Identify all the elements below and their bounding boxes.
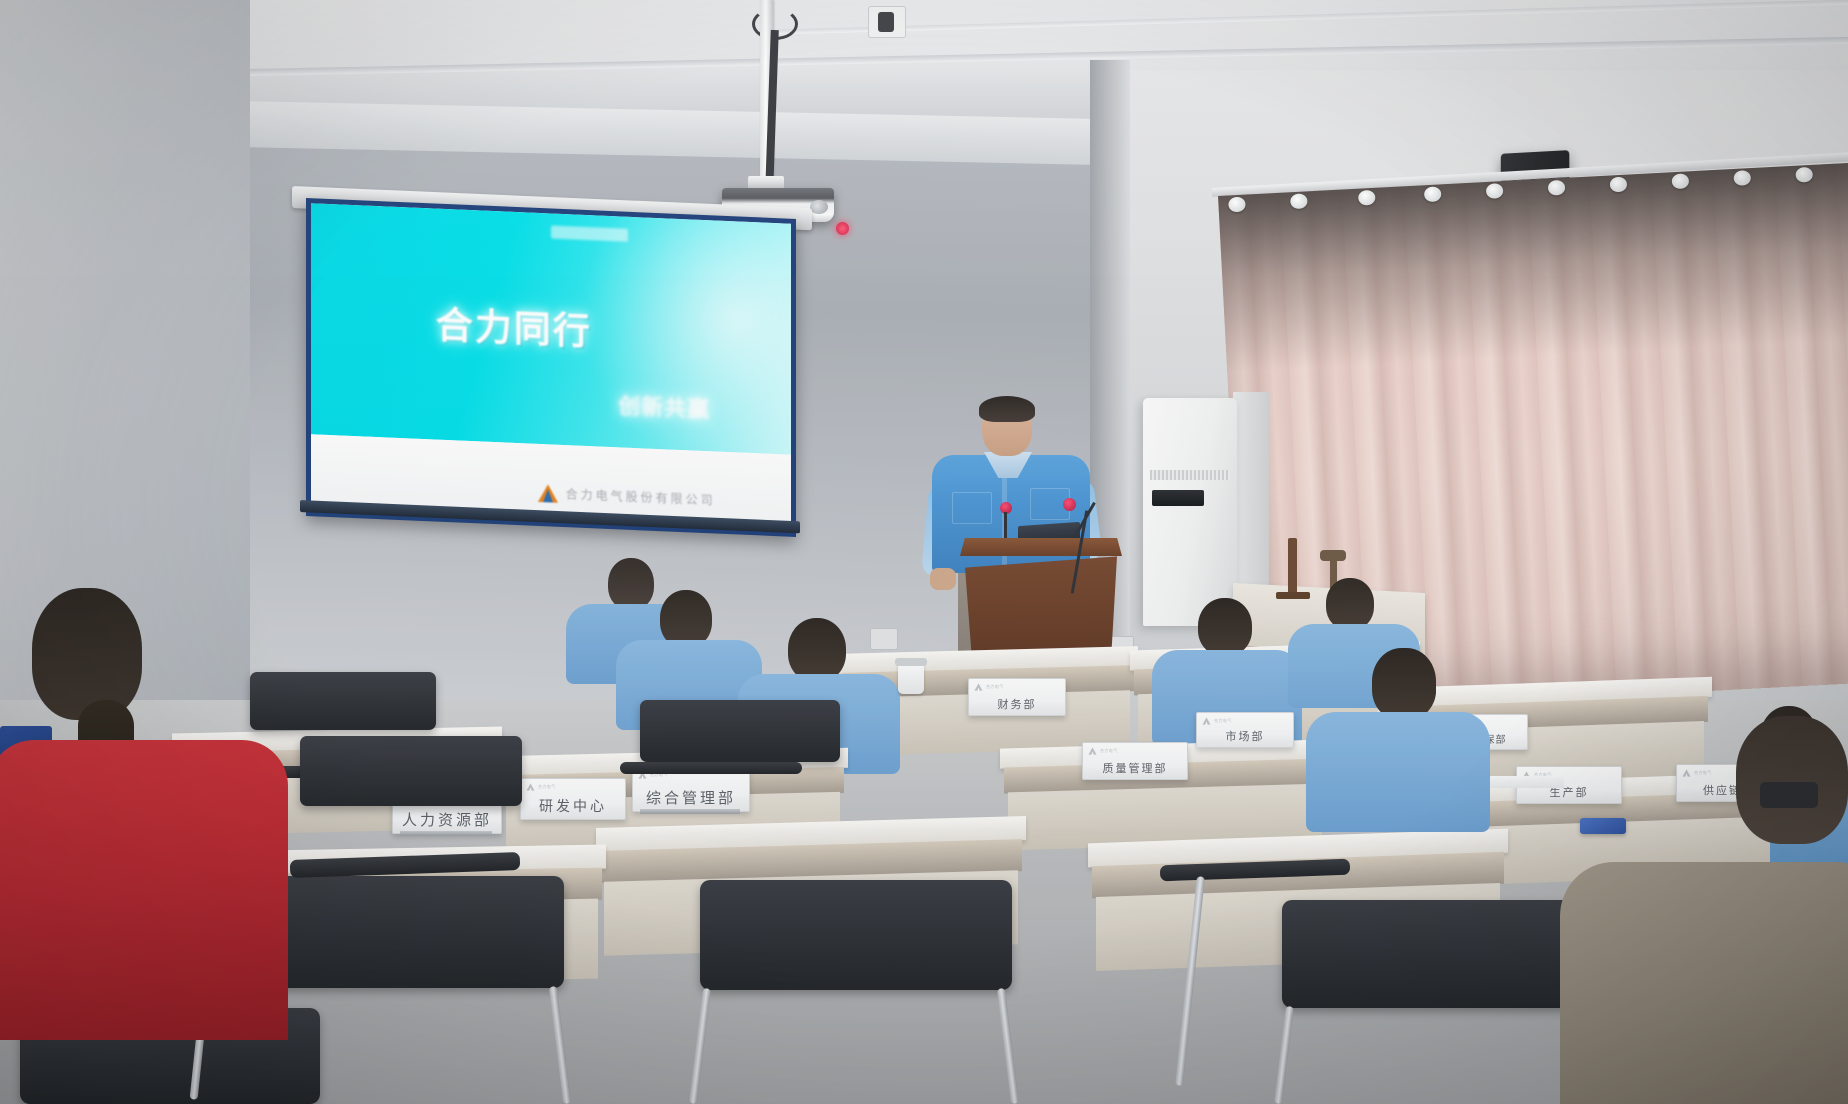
chair-armrest: [620, 762, 802, 774]
person-torso: [1306, 712, 1490, 832]
person-head: [32, 588, 142, 720]
chair-row2-left[interactable]: [300, 736, 522, 806]
nameplate-org: 合力电气: [1100, 748, 1118, 754]
ceiling-plug: [878, 12, 894, 32]
nameplate-quality: 合力电气 质量管理部: [1082, 742, 1188, 780]
person-head: [1736, 716, 1848, 844]
company-logo-icon: [1088, 747, 1097, 755]
ac-grille-icon: [1150, 470, 1230, 480]
slide-subline: 创新共赢: [618, 389, 710, 425]
person-head: [788, 618, 846, 682]
decor-stand-2-top: [1320, 550, 1346, 561]
nameplate-org: 合力电气: [538, 784, 556, 790]
chair-foreground-center[interactable]: [700, 880, 1012, 990]
nameplate-market: 合力电气 市场部: [1196, 712, 1294, 748]
chair-backrest: [1282, 900, 1588, 1008]
company-logo-icon: [1202, 717, 1211, 725]
company-logo-icon: [537, 482, 559, 503]
decor-stand: [1288, 538, 1297, 596]
person-torso: [1560, 862, 1848, 1104]
chair-backrest: [640, 700, 840, 762]
nameplate-logo: 合力电气: [1088, 747, 1118, 755]
cup-lid: [895, 658, 927, 666]
wall-outlet: [870, 628, 898, 650]
nameplate-logo: 合力电气: [1682, 769, 1712, 777]
projector-status-light-icon: [836, 222, 849, 235]
eyeglasses-icon: [1760, 782, 1818, 808]
ac-display-panel: [1152, 490, 1204, 506]
chair-backrest: [250, 672, 436, 730]
chair-foreground-right[interactable]: [1282, 900, 1588, 1008]
presenter-hair: [979, 396, 1035, 422]
nameplate-org: 合力电气: [1694, 770, 1712, 776]
nameplate-text: 研发中心: [521, 796, 625, 819]
person-torso: [0, 740, 288, 1040]
paper-cup: [898, 662, 924, 694]
presenter-pocket-left: [952, 492, 992, 524]
decor-stand-base: [1276, 592, 1310, 599]
chair-row2-center[interactable]: [640, 700, 840, 762]
nameplate-org: 合力电气: [1214, 718, 1232, 724]
nameplate-org: 合力电气: [986, 684, 1004, 690]
podium-top: [960, 538, 1122, 556]
projector-lens-icon: [810, 200, 828, 214]
slide-headline: 合力同行: [436, 295, 592, 356]
paper-sheet: [1490, 776, 1564, 788]
person-head: [1372, 648, 1436, 720]
screen-frame: 合力同行 创新共赢 合力电气股份有限公司: [306, 198, 796, 537]
company-logo-icon: [974, 683, 983, 691]
nameplate-logo: 合力电气: [526, 783, 556, 791]
person-head: [1326, 578, 1374, 630]
microphone-head-icon-2: [1063, 498, 1076, 511]
nameplate-rnd: 合力电气 研发中心: [520, 778, 626, 820]
company-logo-icon: [526, 783, 535, 791]
chair-backrest: [300, 736, 522, 806]
projection-screen[interactable]: 合力同行 创新共赢 合力电气股份有限公司: [306, 198, 796, 537]
nameplate-stand: [640, 809, 740, 814]
smartphone[interactable]: [1580, 818, 1626, 834]
person-head: [1198, 598, 1252, 656]
chair-foreground-left[interactable]: [254, 876, 564, 988]
chair-row3-left[interactable]: [250, 672, 436, 730]
nameplate-logo: 合力电气: [974, 683, 1004, 691]
presenter-hand: [930, 568, 956, 590]
nameplate-text: 市场部: [1197, 728, 1293, 747]
person-head: [608, 558, 654, 610]
chair-arm-center[interactable]: [620, 762, 802, 792]
nameplate-text: 质量管理部: [1083, 760, 1187, 779]
conference-room-photo: 合力同行 创新共赢 合力电气股份有限公司: [0, 0, 1848, 1104]
company-logo-icon: [1682, 769, 1691, 777]
air-conditioner[interactable]: [1143, 398, 1237, 626]
screen-surface: 合力同行 创新共赢 合力电气股份有限公司: [311, 203, 791, 532]
nameplate-text: 人力资源部: [393, 809, 501, 833]
chair-backrest: [700, 880, 1012, 990]
nameplate-finance: 合力电气 财务部: [968, 678, 1066, 716]
nameplate-logo: 合力电气: [1202, 717, 1232, 725]
chair-backrest: [254, 876, 564, 988]
nameplate-text: 财务部: [969, 696, 1065, 715]
nameplate-stand: [400, 831, 492, 836]
